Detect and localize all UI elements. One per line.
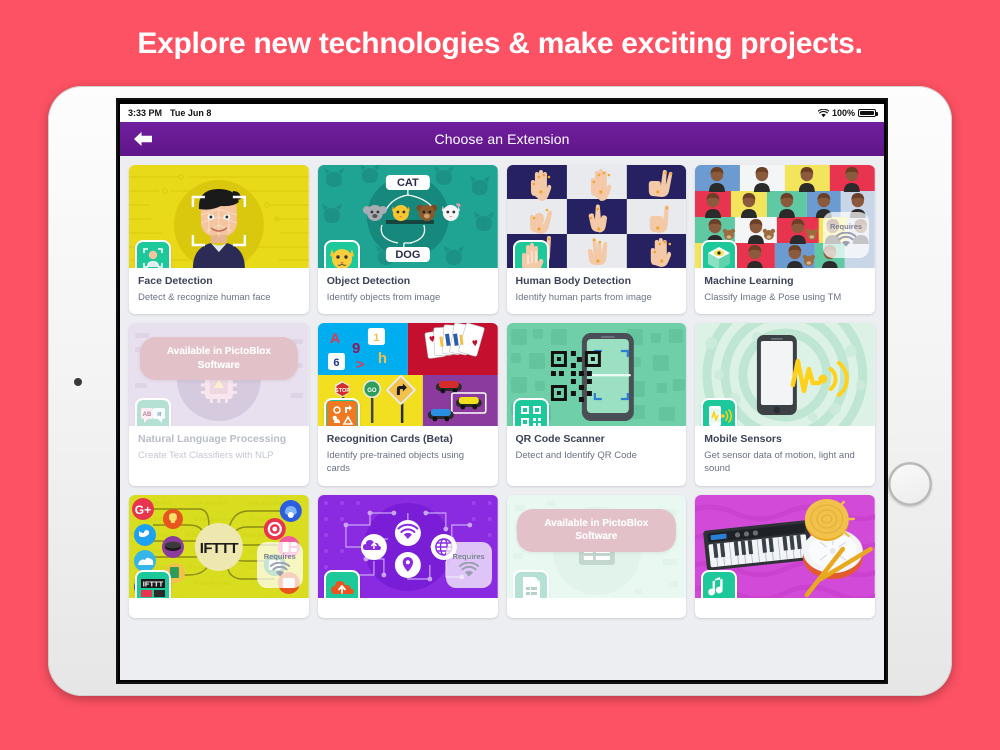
phone-sensor-icon [701, 398, 737, 426]
wifi-icon [270, 562, 290, 578]
front-camera-icon [74, 378, 82, 386]
extension-description: Detect and Identify QR Code [516, 449, 678, 462]
extension-card-google-sheets[interactable]: Available in PictoBlox Software [507, 495, 687, 618]
pictoblox-only-badge: Available in PictoBlox Software [517, 509, 675, 552]
wifi-icon [836, 232, 856, 248]
extension-description: Get sensor data of motion, light and sou… [704, 449, 866, 475]
extension-description: Identify objects from image [327, 291, 489, 304]
cards-icon [324, 398, 360, 426]
extension-card-text: Face Detection Detect & recognize human … [129, 268, 309, 314]
extension-card-text: Mobile Sensors Get sensor data of motion… [695, 426, 875, 485]
extension-title: Natural Language Processing [138, 433, 300, 446]
extension-title: Human Body Detection [516, 275, 678, 288]
battery-full-icon [858, 109, 876, 117]
extension-card-text: Object Detection Identify objects from i… [318, 268, 498, 314]
extension-card-face-detection[interactable]: Face Detection Detect & recognize human … [129, 165, 309, 314]
svg-text:IFTTT: IFTTT [143, 579, 164, 588]
extension-thumbnail: CAT DOG [318, 165, 498, 268]
cloud-upload-icon [324, 570, 360, 598]
extension-card-mobile-sensors[interactable]: Mobile Sensors Get sensor data of motion… [695, 323, 875, 485]
requires-wifi-badge: Requires [823, 212, 869, 258]
top-banner: Explore new technologies & make exciting… [0, 0, 1000, 88]
svg-text:GO: GO [367, 388, 377, 394]
extension-card-human-body-detection[interactable]: Human Body Detection Identify human part… [507, 165, 687, 314]
extension-title: Recognition Cards (Beta) [327, 433, 489, 446]
extension-card-natural-language-processing[interactable]: Available in PictoBlox Software AB अ [129, 323, 309, 485]
extension-card-text [507, 598, 687, 618]
extension-thumbnail: Available in PictoBlox Software [507, 495, 687, 598]
music-notes-icon [701, 570, 737, 598]
extensions-grid: Face Detection Detect & recognize human … [120, 156, 884, 618]
page-title: Choose an Extension [120, 131, 884, 147]
extension-card-internet-of-things[interactable]: Requires [318, 495, 498, 618]
back-arrow-icon[interactable] [132, 130, 154, 148]
svg-text:9: 9 [352, 340, 360, 357]
requires-label: Requires [264, 552, 296, 561]
extension-card-object-detection[interactable]: CAT DOG [318, 165, 498, 314]
wifi-icon [818, 109, 829, 118]
banner-headline: Explore new technologies & make exciting… [137, 27, 862, 61]
extension-description: Classify Image & Pose using TM [704, 291, 866, 304]
extension-title: Mobile Sensors [704, 433, 866, 446]
requires-wifi-badge: Requires [446, 542, 492, 588]
hand-icon [513, 240, 549, 268]
document-icon [513, 570, 549, 598]
extension-thumbnail [507, 165, 687, 268]
extension-card-text: QR Code Scanner Detect and Identify QR C… [507, 426, 687, 472]
svg-text:1: 1 [373, 332, 379, 344]
extension-thumbnail [507, 323, 687, 426]
extension-description: Identify human parts from image [516, 291, 678, 304]
extension-card-recognition-cards[interactable]: A 9 1 6 > h [318, 323, 498, 485]
extension-title: QR Code Scanner [516, 433, 678, 446]
status-date: Tue Jun 8 [170, 108, 211, 118]
ml-cube-icon [701, 240, 737, 268]
svg-text:अ: अ [157, 412, 162, 418]
pictoblox-only-badge: Available in PictoBlox Software [140, 337, 298, 380]
extension-thumbnail [695, 323, 875, 426]
svg-text:G+: G+ [135, 503, 151, 517]
extension-card-text [318, 598, 498, 618]
svg-text:CAT: CAT [397, 177, 419, 189]
tablet-device-frame: 3:33 PM Tue Jun 8 100% [48, 86, 952, 696]
cat-face-icon [324, 240, 360, 268]
extension-description: Detect & recognize human face [138, 291, 300, 304]
status-bar: 3:33 PM Tue Jun 8 100% [120, 104, 884, 122]
tablet-screen: 3:33 PM Tue Jun 8 100% [118, 100, 886, 682]
extension-thumbnail: Requires [318, 495, 498, 598]
svg-text:if this then that: if this then that [191, 501, 228, 507]
extension-card-text: Machine Learning Classify Image & Pose u… [695, 268, 875, 314]
svg-text:STOP: STOP [335, 388, 350, 394]
extension-card-qr-code-scanner[interactable]: QR Code Scanner Detect and Identify QR C… [507, 323, 687, 485]
extension-card-text: Natural Language Processing Create Text … [129, 426, 309, 472]
extension-card-text [695, 598, 875, 618]
svg-text:AB: AB [143, 412, 152, 418]
wifi-icon [459, 562, 479, 578]
extension-title: Object Detection [327, 275, 489, 288]
extension-card-text: Human Body Detection Identify human part… [507, 268, 687, 314]
extension-thumbnail [129, 165, 309, 268]
extension-description: Create Text Classifiers with NLP [138, 449, 300, 462]
extension-thumbnail [695, 495, 875, 598]
face-detection-icon [135, 240, 171, 268]
app-viewport: 3:33 PM Tue Jun 8 100% [120, 104, 884, 680]
status-time: 3:33 PM [128, 108, 162, 118]
extension-title: Machine Learning [704, 275, 866, 288]
svg-text:if this then that: if this then that [247, 501, 284, 507]
requires-wifi-badge: Requires [257, 542, 303, 588]
battery-percent-label: 100% [832, 108, 855, 118]
svg-text:IFTTT: IFTTT [200, 540, 239, 557]
svg-text:A: A [330, 330, 340, 346]
svg-text:if this then that: if this then that [195, 581, 232, 587]
speech-bubbles-icon: AB अ [135, 398, 171, 426]
app-navbar: Choose an Extension [120, 122, 884, 156]
svg-text:DOG: DOG [395, 249, 420, 261]
extension-thumbnail: Requires [695, 165, 875, 268]
extension-card-ifttt[interactable]: if this then thatif this then thatif thi… [129, 495, 309, 618]
extension-card-music[interactable] [695, 495, 875, 618]
requires-label: Requires [452, 552, 484, 561]
svg-text:6: 6 [333, 357, 339, 369]
svg-text:>: > [356, 356, 364, 372]
extension-thumbnail: A 9 1 6 > h [318, 323, 498, 426]
extension-card-text [129, 598, 309, 618]
extension-card-text: Recognition Cards (Beta) Identify pre-tr… [318, 426, 498, 485]
extension-thumbnail: Available in PictoBlox Software AB अ [129, 323, 309, 426]
requires-label: Requires [830, 222, 862, 231]
extension-thumbnail: if this then thatif this then thatif thi… [129, 495, 309, 598]
extension-card-machine-learning[interactable]: Requires [695, 165, 875, 314]
svg-text:if this then that: if this then that [195, 517, 232, 523]
svg-text:h: h [378, 350, 387, 367]
home-button[interactable] [888, 462, 932, 506]
extension-description: Identify pre-trained objects using cards [327, 449, 489, 475]
ifttt-icon: IFTTT [135, 570, 171, 598]
qr-code-icon [513, 398, 549, 426]
extension-title: Face Detection [138, 275, 300, 288]
